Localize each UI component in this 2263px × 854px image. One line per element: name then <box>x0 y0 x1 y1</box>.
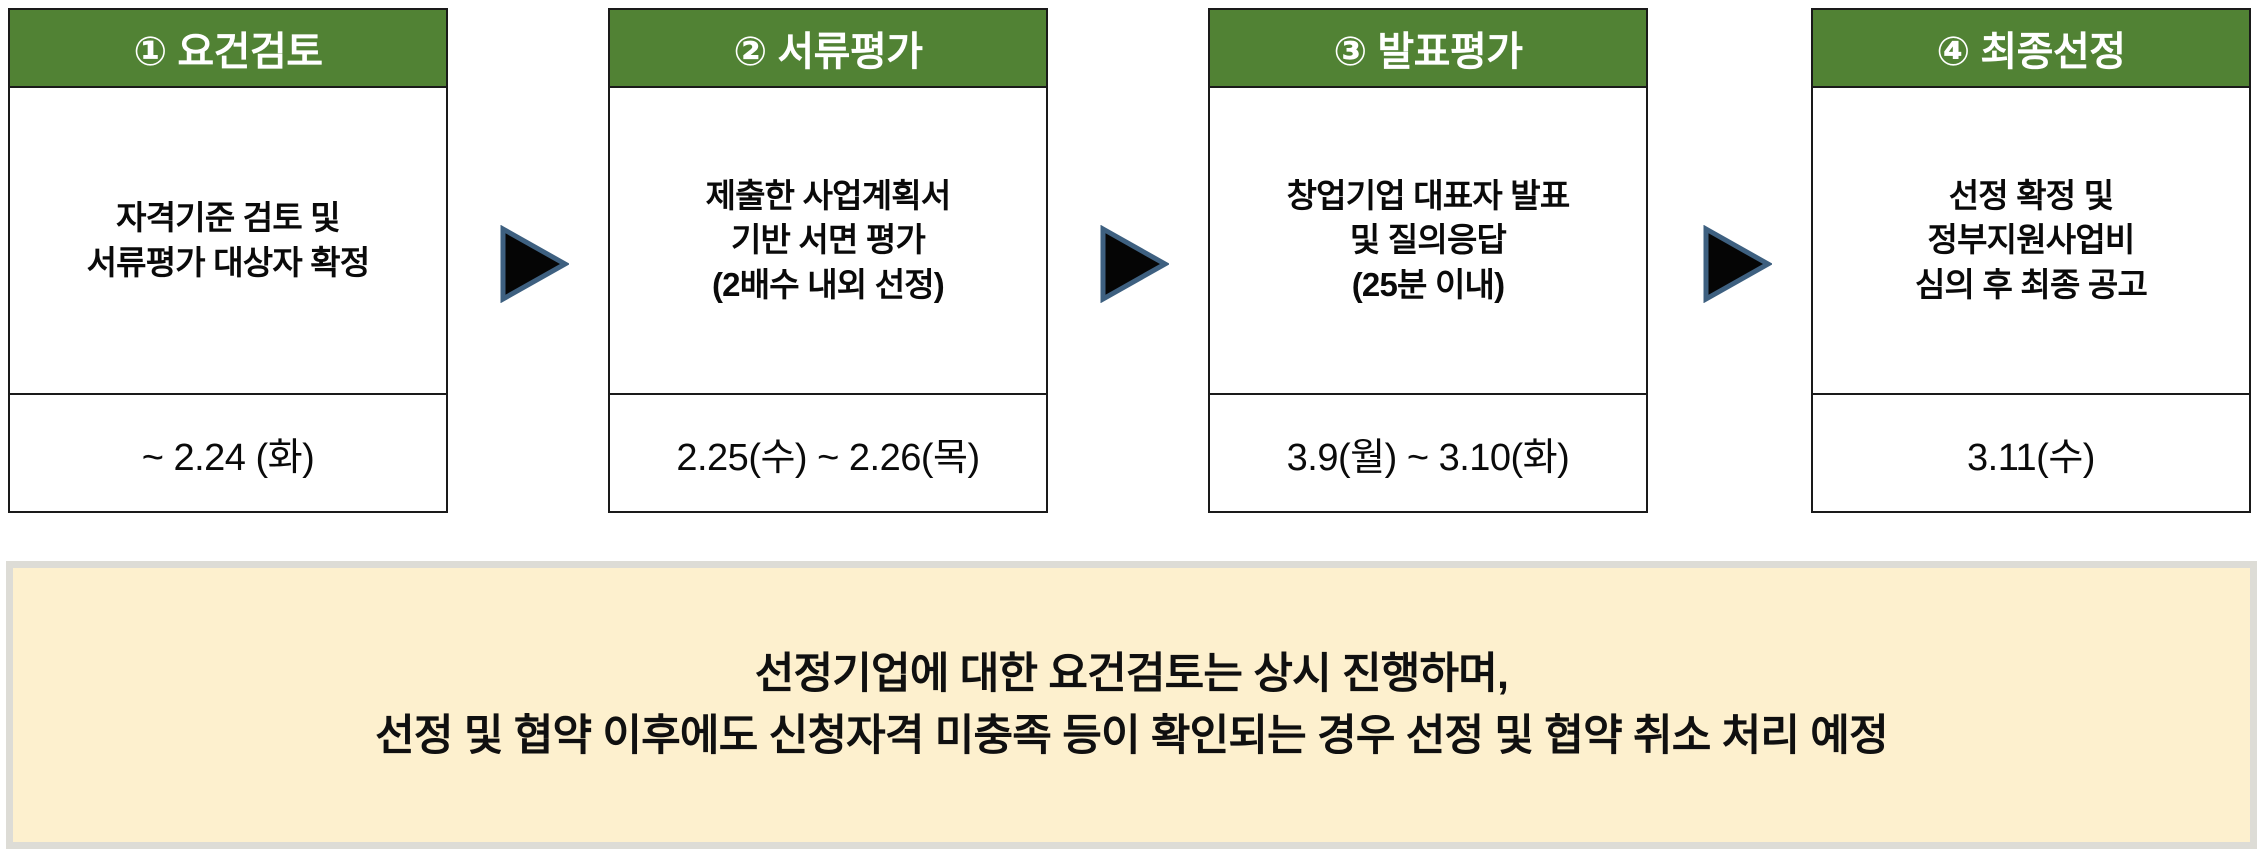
process-step-3: ③ 발표평가 창업기업 대표자 발표 및 질의응답 (25분 이내) 3.9(월… <box>1208 8 1648 513</box>
arrow-triangle-shape <box>1103 229 1165 299</box>
arrow-right-icon <box>497 225 569 303</box>
process-step-2: ② 서류평가 제출한 사업계획서 기반 서면 평가 (2배수 내외 선정) 2.… <box>608 8 1048 513</box>
notice-banner: 선정기업에 대한 요건검토는 상시 진행하며, 선정 및 협약 이후에도 신청자… <box>6 561 2257 849</box>
process-step-1-date: ~ 2.24 (화) <box>10 393 446 511</box>
process-step-2-header: ② 서류평가 <box>610 10 1046 88</box>
arrow-triangle-shape <box>503 229 565 299</box>
process-step-4: ④ 최종선정 선정 확정 및 정부지원사업비 심의 후 최종 공고 3.11(수… <box>1811 8 2251 513</box>
process-step-4-date: 3.11(수) <box>1813 393 2249 511</box>
process-step-4-header: ④ 최종선정 <box>1813 10 2249 88</box>
process-step-3-header: ③ 발표평가 <box>1210 10 1646 88</box>
process-flow-diagram: ① 요건검토 자격기준 검토 및 서류평가 대상자 확정 ~ 2.24 (화) … <box>0 0 2263 525</box>
process-step-1-description: 자격기준 검토 및 서류평가 대상자 확정 <box>10 88 446 393</box>
process-step-1-header: ① 요건검토 <box>10 10 446 88</box>
process-step-3-description: 창업기업 대표자 발표 및 질의응답 (25분 이내) <box>1210 88 1646 393</box>
process-step-3-date: 3.9(월) ~ 3.10(화) <box>1210 393 1646 511</box>
notice-banner-text: 선정기업에 대한 요건검토는 상시 진행하며, 선정 및 협약 이후에도 신청자… <box>375 643 1888 768</box>
process-step-2-date: 2.25(수) ~ 2.26(목) <box>610 393 1046 511</box>
process-step-2-description: 제출한 사업계획서 기반 서면 평가 (2배수 내외 선정) <box>610 88 1046 393</box>
arrow-right-icon <box>1700 225 1772 303</box>
arrow-right-icon <box>1097 225 1169 303</box>
arrow-triangle-shape <box>1706 229 1768 299</box>
process-step-4-description: 선정 확정 및 정부지원사업비 심의 후 최종 공고 <box>1813 88 2249 393</box>
process-step-1: ① 요건검토 자격기준 검토 및 서류평가 대상자 확정 ~ 2.24 (화) <box>8 8 448 513</box>
